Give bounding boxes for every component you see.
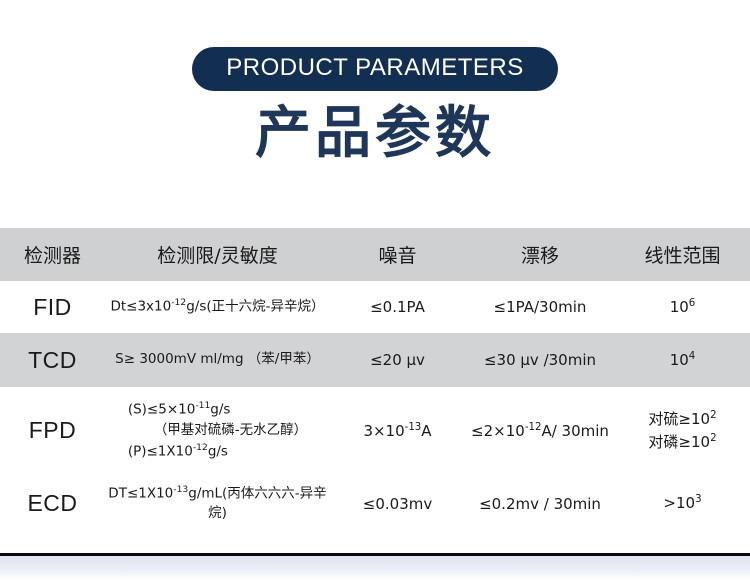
limit-line-1: (S)≤5×10-11g/s xyxy=(128,399,307,420)
table-row: FID Dt≤3x10-12g/s(正十六烷-异辛烷） ≤0.1PA ≤1PA/… xyxy=(0,281,750,333)
product-parameters-table: 检测器 检测限/灵敏度 噪音 漂移 线性范围 FID Dt≤3x10-12g/s… xyxy=(0,228,750,533)
linear-range-value: 106 xyxy=(615,281,750,333)
detector-name: TCD xyxy=(0,333,105,387)
table-row: TCD S≥ 3000mV ml/mg （苯/甲苯） ≤20 μv ≤30 μv… xyxy=(0,333,750,387)
limit-line-3: (P)≤1X10-12g/s xyxy=(128,441,307,462)
column-header-limit: 检测限/灵敏度 xyxy=(105,228,330,281)
table-row: ECD DT≤1X10-13g/mL(丙体六六六-异辛烷) ≤0.03mv ≤0… xyxy=(0,474,750,533)
column-header-noise: 噪音 xyxy=(330,228,465,281)
detection-limit-value: S≥ 3000mV ml/mg （苯/甲苯） xyxy=(105,333,330,387)
column-header-range: 线性范围 xyxy=(615,228,750,281)
drift-value: ≤30 μv /30min xyxy=(465,333,615,387)
detection-limit-value: Dt≤3x10-12g/s(正十六烷-异辛烷） xyxy=(105,281,330,333)
drift-value: ≤2×10-12A/ 30min xyxy=(465,387,615,474)
page-title-block: PRODUCT PARAMETERS 产品参数 xyxy=(0,0,750,164)
limit-line-2: （甲基对硫磷-无水乙醇） xyxy=(128,420,307,441)
column-header-drift: 漂移 xyxy=(465,228,615,281)
bottom-gradient-band xyxy=(0,556,750,580)
drift-value: ≤0.2mv / 30min xyxy=(465,474,615,533)
detector-name: FID xyxy=(0,281,105,333)
linear-range-value: 104 xyxy=(615,333,750,387)
noise-value: ≤0.03mv xyxy=(330,474,465,533)
detection-limit-value: (S)≤5×10-11g/s （甲基对硫磷-无水乙醇） (P)≤1X10-12g… xyxy=(105,387,330,474)
linear-range-value: 对硫≥102 对磷≥102 xyxy=(615,387,750,474)
table-row: FPD (S)≤5×10-11g/s （甲基对硫磷-无水乙醇） (P)≤1X10… xyxy=(0,387,750,474)
noise-value: ≤20 μv xyxy=(330,333,465,387)
detection-limit-value: DT≤1X10-13g/mL(丙体六六六-异辛烷) xyxy=(105,474,330,533)
detector-name: FPD xyxy=(0,387,105,474)
noise-value: ≤0.1PA xyxy=(330,281,465,333)
page-title: 产品参数 xyxy=(0,105,750,164)
range-line-2: 对磷≥102 xyxy=(615,431,750,454)
range-line-1: 对硫≥102 xyxy=(615,408,750,431)
detector-name: ECD xyxy=(0,474,105,533)
table-header-row: 检测器 检测限/灵敏度 噪音 漂移 线性范围 xyxy=(0,228,750,281)
drift-value: ≤1PA/30min xyxy=(465,281,615,333)
linear-range-value: >103 xyxy=(615,474,750,533)
column-header-detector: 检测器 xyxy=(0,228,105,281)
noise-value: 3×10-13A xyxy=(330,387,465,474)
product-parameters-badge: PRODUCT PARAMETERS xyxy=(192,47,557,91)
